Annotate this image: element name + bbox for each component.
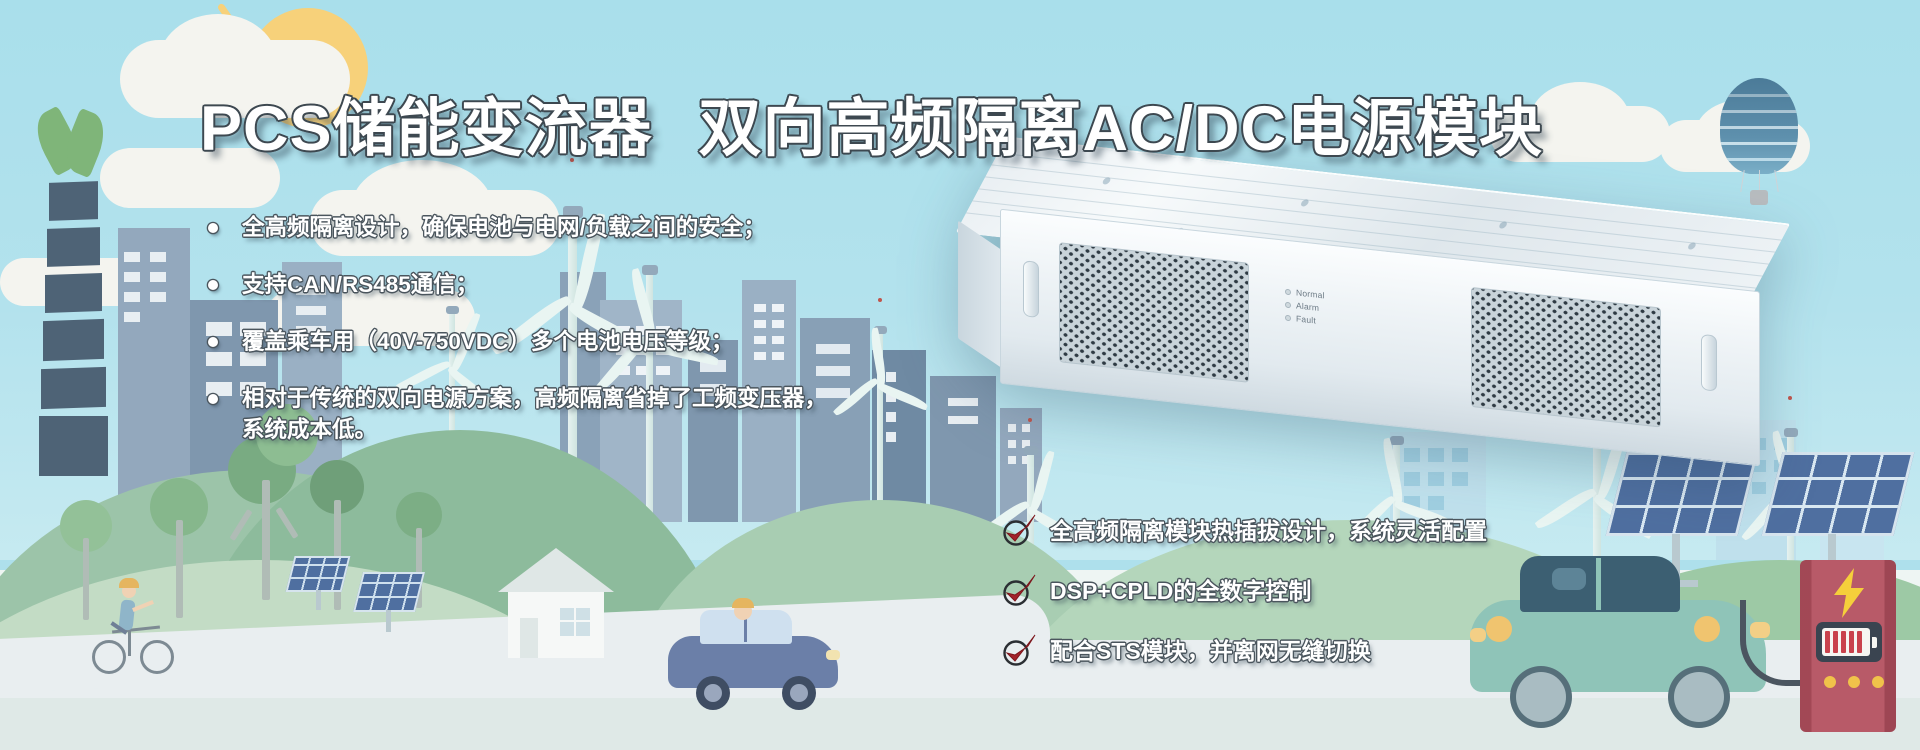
bullet-dot-icon	[208, 223, 218, 233]
led-label-fault: Fault	[1296, 313, 1316, 325]
promo-banner: Normal Alarm Fault PCS储能变流器双向高频隔离AC/DC电源…	[0, 0, 1920, 750]
feature-bullet-list: 全高频隔离设计，确保电池与电网/负载之间的安全； 支持CAN/RS485通信； …	[208, 212, 908, 471]
led-dot-fault	[1285, 314, 1291, 321]
list-item: 覆盖乘车用（40V-750VDC）多个电池电压等级；	[208, 326, 908, 357]
led-dot-alarm	[1285, 301, 1291, 308]
bullet-dot-icon	[208, 337, 218, 347]
led-dot-normal	[1285, 288, 1291, 295]
list-item: 支持CAN/RS485通信；	[208, 269, 908, 300]
bullet-text: 覆盖乘车用（40V-750VDC）多个电池电压等级；	[242, 329, 733, 354]
check-mark-icon	[1002, 573, 1038, 607]
device-vent-left	[1059, 242, 1249, 383]
bullet-text: 支持CAN/RS485通信；	[242, 272, 478, 297]
list-item: 配合STS模块，并离网无缝切换	[1002, 636, 1487, 666]
lightning-bolt-icon	[1828, 568, 1870, 618]
bullet-text: 相对于传统的双向电源方案，高频隔离省掉了工频变压器，	[242, 386, 827, 411]
bullet-dot-icon	[208, 394, 218, 404]
list-item: 相对于传统的双向电源方案，高频隔离省掉了工频变压器， 系统成本低。	[208, 383, 908, 445]
check-mark-icon	[1002, 513, 1038, 547]
bullet-text: 全高频隔离设计，确保电池与电网/负载之间的安全；	[242, 215, 766, 240]
road-shoulder	[0, 698, 1920, 750]
highlight-check-list: 全高频隔离模块热插拔设计，系统灵活配置 DSP+CPLD的全数字控制 配合STS…	[1002, 516, 1487, 696]
page-title: PCS储能变流器双向高频隔离AC/DC电源模块	[200, 78, 1543, 169]
pcs-module-product-image: Normal Alarm Fault	[940, 180, 1820, 470]
bullet-text-line2: 系统成本低。	[242, 414, 908, 445]
check-text: DSP+CPLD的全数字控制	[1050, 578, 1311, 604]
title-part-1: PCS储能变流器	[200, 94, 653, 164]
check-mark-icon	[1002, 633, 1038, 667]
device-vent-right	[1471, 287, 1661, 428]
bullet-dot-icon	[208, 280, 218, 290]
list-item: DSP+CPLD的全数字控制	[1002, 576, 1487, 606]
led-label-alarm: Alarm	[1296, 300, 1319, 313]
device-handle-right	[1701, 334, 1717, 392]
check-text: 配合STS模块，并离网无缝切换	[1050, 638, 1371, 664]
device-led-indicators: Normal Alarm Fault	[1285, 285, 1325, 328]
title-part-2: 双向高频隔离AC/DC电源模块	[699, 94, 1544, 164]
device-handle-left	[1023, 260, 1039, 318]
list-item: 全高频隔离模块热插拔设计，系统灵活配置	[1002, 516, 1487, 546]
list-item: 全高频隔离设计，确保电池与电网/负载之间的安全；	[208, 212, 908, 243]
check-text: 全高频隔离模块热插拔设计，系统灵活配置	[1050, 518, 1487, 544]
